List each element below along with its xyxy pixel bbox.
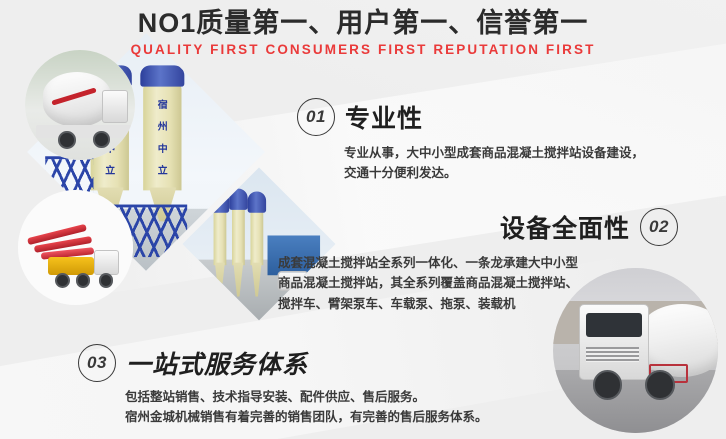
banner-header: NO1质量第一、用户第一、信誉第一 QUALITY FIRST CONSUMER…: [0, 9, 726, 57]
section-03-number-badge: 03: [78, 344, 116, 382]
section-02-body-line-2: 搅拌车、臂架泵车、车载泵、拖泵、装载机: [278, 294, 678, 314]
concrete-mixer-truck-photo: [25, 50, 135, 160]
pump-wheel-3: [99, 273, 114, 288]
section-02-body-line-1: 商品混凝土搅拌站，其全系列覆盖商品混凝土搅拌站、: [278, 273, 678, 293]
main-title: NO1质量第一、用户第一、信誉第一: [0, 9, 726, 39]
promo-banner: NO1质量第一、用户第一、信誉第一 QUALITY FIRST CONSUMER…: [0, 0, 726, 439]
feature-section-02: 设备全面性 02 成套混凝土搅拌站全系列一体化、一条龙承建大中小型 商品混凝土搅…: [278, 208, 678, 314]
section-01-body-line-0: 专业从事，大中小型成套商品混凝土搅拌站设备建设，: [344, 143, 644, 163]
pump-cab: [94, 250, 119, 275]
section-03-body-line-1: 宿州金城机械销售有着完善的销售团队，有完善的售后服务体系。: [125, 407, 488, 427]
site-silo-3: [250, 207, 264, 265]
section-01-body: 专业从事，大中小型成套商品混凝土搅拌站设备建设， 交通十分便利发达。: [344, 143, 644, 184]
truck-grille: [586, 347, 639, 362]
truck-windshield: [586, 313, 642, 338]
section-02-body-line-0: 成套混凝土搅拌站全系列一体化、一条龙承建大中小型: [278, 253, 678, 273]
section-02-number-badge: 02: [640, 208, 678, 246]
section-02-body: 成套混凝土搅拌站全系列一体化、一条龙承建大中小型 商品混凝土搅拌站，其全系列覆盖…: [278, 253, 678, 314]
section-01-title: 专业性: [345, 99, 423, 135]
mixer-cab: [102, 90, 128, 123]
section-03-body: 包括整站销售、技术指导安装、配件供应、售后服务。 宿州金城机械销售有着完善的销售…: [125, 387, 488, 428]
site-silo-2: [231, 204, 245, 265]
pump-wheel-2: [76, 273, 91, 288]
section-02-title: 设备全面性: [500, 209, 630, 245]
feature-section-03: 03 一站式服务体系 包括整站销售、技术指导安装、配件供应、售后服务。 宿州金城…: [78, 344, 488, 428]
pump-body: [48, 257, 94, 275]
truck-wheel-front: [593, 370, 623, 400]
sub-title: QUALITY FIRST CONSUMERS FIRST REPUTATION…: [0, 42, 726, 57]
section-01-heading: 01 专业性: [297, 98, 644, 136]
pump-wheel-1: [55, 273, 70, 288]
section-02-heading: 设备全面性 02: [278, 208, 678, 246]
mixer-wheel-2: [93, 131, 110, 148]
silo-label-3b: 立: [144, 164, 182, 178]
truck-wheel-rear: [645, 370, 675, 400]
mixer-wheel-1: [58, 131, 76, 149]
silo-label-1b: 州: [144, 120, 182, 134]
section-03-body-line-0: 包括整站销售、技术指导安装、配件供应、售后服务。: [125, 387, 488, 407]
section-01-body-line-1: 交通十分便利发达。: [344, 163, 644, 183]
concrete-pump-truck-photo: [18, 190, 133, 305]
section-03-title: 一站式服务体系: [126, 345, 308, 381]
section-01-number-badge: 01: [297, 98, 335, 136]
mixer-chassis: [36, 125, 131, 138]
section-03-heading: 03 一站式服务体系: [78, 344, 488, 382]
silo-right: 宿 州 中 立: [144, 80, 182, 190]
silo-label-3: 立: [91, 164, 129, 178]
site-silo-1: [213, 207, 227, 265]
silo-label-2b: 中: [144, 142, 182, 156]
silo-label-0b: 宿: [144, 98, 182, 112]
feature-section-01: 01 专业性 专业从事，大中小型成套商品混凝土搅拌站设备建设， 交通十分便利发达…: [297, 98, 644, 184]
